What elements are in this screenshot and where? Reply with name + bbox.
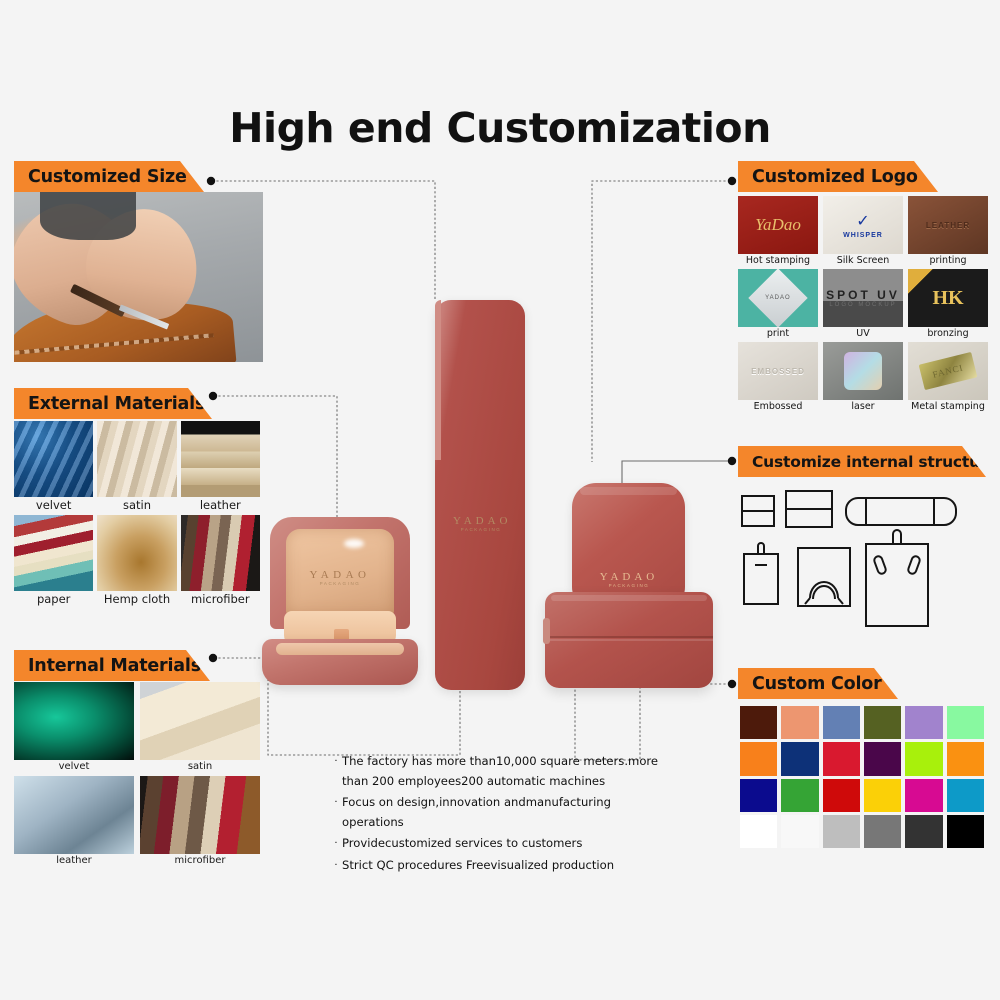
banner-label: Customized Logo [752, 167, 918, 187]
logo-cell: LEATHER printing [908, 196, 988, 266]
material-label: microfiber [191, 592, 250, 606]
color-swatch[interactable] [864, 742, 901, 775]
color-swatch[interactable] [905, 706, 942, 739]
color-swatch[interactable] [823, 742, 860, 775]
color-swatch[interactable] [864, 815, 901, 848]
material-label: satin [123, 498, 151, 512]
material-label: velvet [59, 761, 90, 772]
material-swatch: paper [14, 515, 93, 606]
color-swatch[interactable] [823, 706, 860, 739]
banner-internal-materials[interactable]: Internal Materials [14, 650, 210, 681]
banner-label: Customize internal structure [752, 453, 998, 471]
bullet-marker: · [330, 834, 342, 854]
color-swatch[interactable] [864, 779, 901, 812]
material-label: paper [37, 592, 70, 606]
color-swatch[interactable] [740, 815, 777, 848]
logo-cell: YADAO print [738, 269, 818, 339]
color-swatch[interactable] [781, 742, 818, 775]
logo-cell: FANCI Metal stamping [908, 342, 988, 412]
material-swatch: microfiber [181, 515, 260, 606]
connector-dot [728, 177, 736, 185]
list-item-text: Focus on design,innovation andmanufactur… [342, 793, 672, 832]
logo-cell: EMBOSSED Embossed [738, 342, 818, 412]
material-label: satin [188, 761, 212, 772]
banner-customized-logo[interactable]: Customized Logo [738, 161, 938, 192]
banner-label: External Materials [28, 394, 205, 414]
banner-label: Custom Color [752, 674, 882, 694]
color-swatch[interactable] [740, 779, 777, 812]
banner-custom-color[interactable]: Custom Color [738, 668, 898, 699]
custom-color-palette [740, 706, 984, 848]
connector-dot [728, 457, 736, 465]
product-long-necklace-box: YADAO PACKAGING [435, 300, 525, 690]
banner-external-materials[interactable]: External Materials [14, 388, 212, 419]
logo-label: Silk Screen [837, 255, 890, 266]
two-slot-small-tray-icon [742, 496, 774, 526]
list-item: · Focus on design,innovation andmanufact… [330, 793, 680, 832]
material-swatch: microfiber [140, 776, 260, 866]
list-item-text: Providecustomized services to customers [342, 834, 582, 854]
bullet-marker: · [330, 752, 342, 791]
logo-label: bronzing [927, 328, 968, 339]
factory-facts-list: · The factory has more than10,000 square… [330, 752, 680, 878]
three-section-bar-tray-icon [846, 498, 956, 525]
logo-label: Hot stamping [746, 255, 810, 266]
material-label: leather [200, 498, 241, 512]
external-materials-grid: velvet satin leather paper Hemp cloth mi… [14, 421, 260, 606]
connector-dot [207, 177, 215, 185]
banner-customized-size[interactable]: Customized Size [14, 161, 204, 192]
bangle-holder-icon [798, 548, 850, 606]
material-swatch: leather [14, 776, 134, 866]
list-item-text: Strict QC procedures Freevisualized prod… [342, 856, 614, 876]
product-stacked-base-box [545, 592, 713, 688]
section-internal-materials: Internal Materials [14, 650, 210, 681]
color-swatch[interactable] [864, 706, 901, 739]
bullet-marker: · [330, 793, 342, 832]
logo-label: Embossed [754, 401, 803, 412]
color-swatch[interactable] [740, 742, 777, 775]
color-swatch[interactable] [947, 742, 984, 775]
logo-label: Metal stamping [911, 401, 985, 412]
list-item-text: The factory has more than10,000 square m… [342, 752, 672, 791]
bullet-marker: · [330, 856, 342, 876]
material-swatch: satin [97, 421, 176, 512]
logo-cell: HK bronzing [908, 269, 988, 339]
color-swatch[interactable] [781, 706, 818, 739]
banner-label: Customized Size [28, 167, 187, 187]
connector-dot [728, 680, 736, 688]
color-swatch[interactable] [905, 742, 942, 775]
connector-dot [209, 654, 217, 662]
material-swatch: leather [181, 421, 260, 512]
color-swatch[interactable] [823, 779, 860, 812]
material-swatch: satin [140, 682, 260, 772]
logo-label: printing [929, 255, 966, 266]
color-swatch[interactable] [905, 815, 942, 848]
internal-structure-icons [736, 486, 992, 646]
color-swatch[interactable] [947, 815, 984, 848]
customized-logo-grid: YaDao Hot stamping ✓ WHISPER Silk Screen… [738, 196, 988, 412]
material-swatch: velvet [14, 682, 134, 772]
material-label: microfiber [175, 855, 226, 866]
section-internal-structure: Customize internal structure [738, 446, 986, 477]
color-swatch[interactable] [905, 779, 942, 812]
pendant-card-holder-icon [744, 543, 778, 604]
internal-materials-grid: velvet satin leather microfiber [14, 682, 260, 866]
color-swatch[interactable] [781, 779, 818, 812]
logo-cell: laser [823, 342, 903, 412]
logo-cell: YaDao Hot stamping [738, 196, 818, 266]
list-item: · The factory has more than10,000 square… [330, 752, 680, 791]
list-item: · Providecustomized services to customer… [330, 834, 680, 854]
color-swatch[interactable] [781, 815, 818, 848]
color-swatch[interactable] [947, 706, 984, 739]
banner-internal-structure[interactable]: Customize internal structure [738, 446, 986, 477]
earring-card-holder-icon [866, 530, 928, 626]
banner-label: Internal Materials [28, 656, 201, 676]
infographic-canvas: High end Customization Customized Size E… [0, 0, 1000, 1000]
customized-size-photo [14, 192, 263, 362]
logo-label: print [767, 328, 789, 339]
color-swatch[interactable] [823, 815, 860, 848]
section-custom-color: Custom Color [738, 668, 898, 699]
logo-label: laser [851, 401, 874, 412]
section-customized-logo: Customized Logo [738, 161, 938, 192]
section-customized-size: Customized Size [14, 161, 204, 192]
logo-cell: ✓ WHISPER Silk Screen [823, 196, 903, 266]
material-label: Hemp cloth [104, 592, 170, 606]
material-label: leather [56, 855, 92, 866]
page-title: High end Customization [0, 104, 1000, 152]
product-ring-box-open: YADAO PACKAGING [262, 517, 418, 685]
material-swatch: Hemp cloth [97, 515, 176, 606]
material-label: velvet [36, 498, 71, 512]
two-slot-wide-tray-icon [786, 491, 832, 527]
list-item: · Strict QC procedures Freevisualized pr… [330, 856, 680, 876]
color-swatch[interactable] [947, 779, 984, 812]
logo-label: UV [856, 328, 869, 339]
logo-cell: SPOT UV LOGO MOCKUP UV [823, 269, 903, 339]
material-swatch: velvet [14, 421, 93, 512]
color-swatch[interactable] [740, 706, 777, 739]
section-external-materials: External Materials [14, 388, 212, 419]
